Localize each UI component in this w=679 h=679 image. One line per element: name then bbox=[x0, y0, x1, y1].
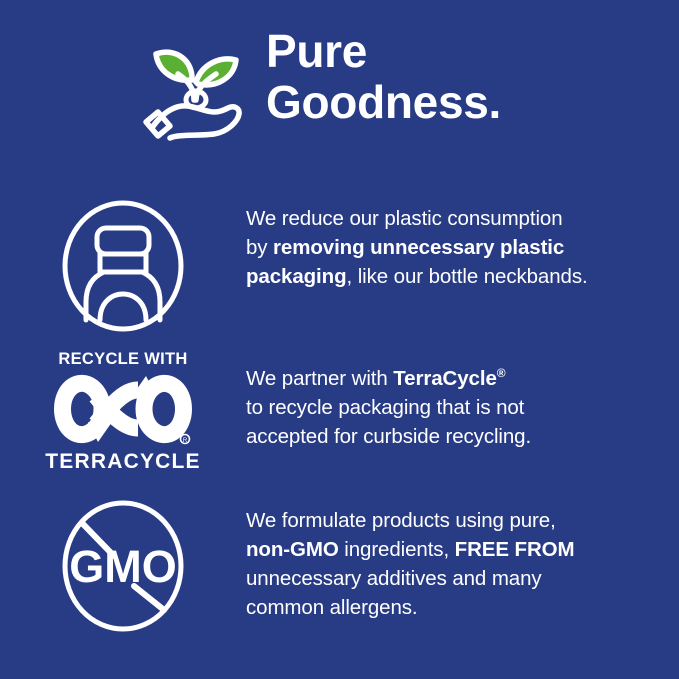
text-line: accepted for curbside recycling. bbox=[246, 422, 679, 451]
text-line: We partner with TerraCycle® bbox=[246, 364, 679, 393]
terracycle-logo-icon: RECYCLE WITH R bbox=[51, 350, 195, 473]
registered-mark: ® bbox=[497, 366, 506, 380]
feature-text-gmo: We formulate products using pure, non-GM… bbox=[246, 496, 679, 622]
icon-cell bbox=[0, 196, 246, 334]
text-line: common allergens. bbox=[246, 593, 679, 622]
pure-goodness-infographic: Pure Goodness. We reduce ou bbox=[0, 0, 679, 679]
feature-row-gmo: GMO We formulate products using pure, no… bbox=[0, 496, 679, 634]
text-line: to recycle packaging that is not bbox=[246, 393, 679, 422]
text-line: We formulate products using pure, bbox=[246, 506, 679, 535]
infinity-recycle-arrows-icon: R bbox=[52, 372, 194, 446]
text-line: packaging, like our bottle neckbands. bbox=[246, 262, 679, 291]
text-line: We reduce our plastic consumption bbox=[246, 204, 679, 233]
feature-text-terracycle: We partner with TerraCycle® to recycle p… bbox=[246, 348, 679, 451]
icon-cell: RECYCLE WITH R bbox=[0, 348, 246, 473]
terracycle-top-label: RECYCLE WITH bbox=[58, 350, 187, 368]
terracycle-bottom-label: TERRACYCLE bbox=[45, 450, 201, 473]
feature-text-plastic: We reduce our plastic consumption by rem… bbox=[246, 196, 679, 291]
page-title: Pure Goodness. bbox=[266, 26, 501, 128]
page-title-line-2: Goodness. bbox=[266, 77, 501, 128]
text-line: non-GMO ingredients, FREE FROM bbox=[246, 535, 679, 564]
icon-cell: GMO bbox=[0, 496, 246, 634]
svg-text:R: R bbox=[183, 438, 188, 444]
no-gmo-icon: GMO bbox=[58, 498, 188, 634]
page-title-line-1: Pure bbox=[266, 26, 501, 77]
hand-holding-sprout-icon bbox=[142, 34, 254, 146]
text-line: unnecessary additives and many bbox=[246, 564, 679, 593]
feature-row-plastic: We reduce our plastic consumption by rem… bbox=[0, 196, 679, 334]
bottle-neckband-circle-icon bbox=[60, 198, 186, 334]
text-line: by removing unnecessary plastic bbox=[246, 233, 679, 262]
gmo-label: GMO bbox=[69, 541, 177, 592]
header: Pure Goodness. bbox=[0, 26, 679, 156]
feature-row-terracycle: RECYCLE WITH R bbox=[0, 348, 679, 473]
